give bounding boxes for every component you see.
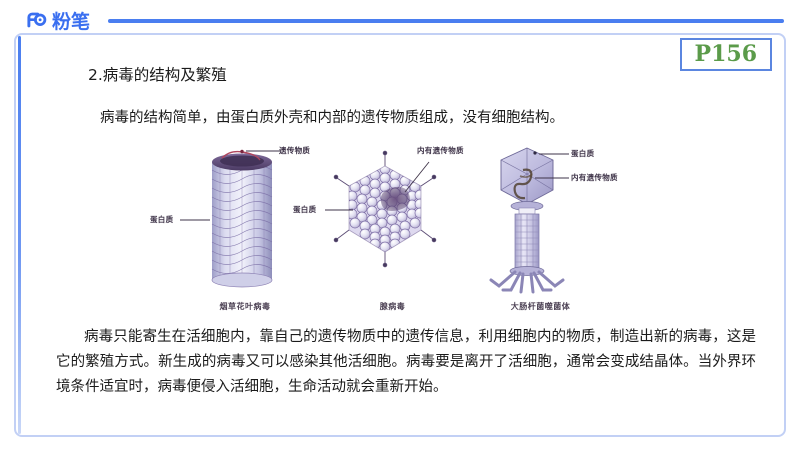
panel-adenovirus: 内有遗传物质 蛋白质 腺病毒 bbox=[305, 140, 480, 312]
label-protein: 蛋白质 bbox=[571, 148, 594, 159]
brand-logo: 粉笔 bbox=[24, 10, 90, 34]
brand-logo-text: 粉笔 bbox=[52, 10, 90, 34]
left-accent-rail bbox=[18, 36, 21, 434]
fenbi-logo-icon bbox=[24, 10, 48, 34]
intro-paragraph: 病毒的结构简单，由蛋白质外壳和内部的遗传物质组成，没有细胞结构。 bbox=[100, 108, 720, 130]
label-protein: 蛋白质 bbox=[150, 214, 173, 225]
caption-bacteriophage: 大肠杆菌噬菌体 bbox=[443, 301, 638, 312]
virus-structure-diagram: 遗传物质 蛋白质 烟草花叶病毒 bbox=[120, 140, 680, 312]
label-protein: 蛋白质 bbox=[293, 204, 316, 215]
page-badge: P156 bbox=[680, 38, 772, 71]
panel-ecoli-bacteriophage: 蛋白质 内有遗传物质 大肠杆菌噬菌体 bbox=[465, 140, 660, 312]
adenovirus-illustration bbox=[305, 140, 480, 300]
slide-root: 粉笔 P156 2.病毒的结构及繁殖 病毒的结构简单，由蛋白质外壳和内部的遗传物… bbox=[0, 0, 800, 450]
label-genetic-material-inside: 内有遗传物质 bbox=[417, 145, 464, 156]
label-genetic-material-inside: 内有遗传物质 bbox=[571, 172, 618, 183]
top-accent-rule bbox=[108, 19, 784, 23]
bacteriophage-illustration bbox=[465, 140, 660, 300]
body-paragraph: 病毒只能寄生在活细胞内，靠自己的遗传物质中的遗传信息，利用细胞内的物质，制造出新… bbox=[56, 325, 756, 400]
page-badge-label: P156 bbox=[695, 41, 757, 67]
section-heading: 2.病毒的结构及繁殖 bbox=[88, 63, 227, 85]
